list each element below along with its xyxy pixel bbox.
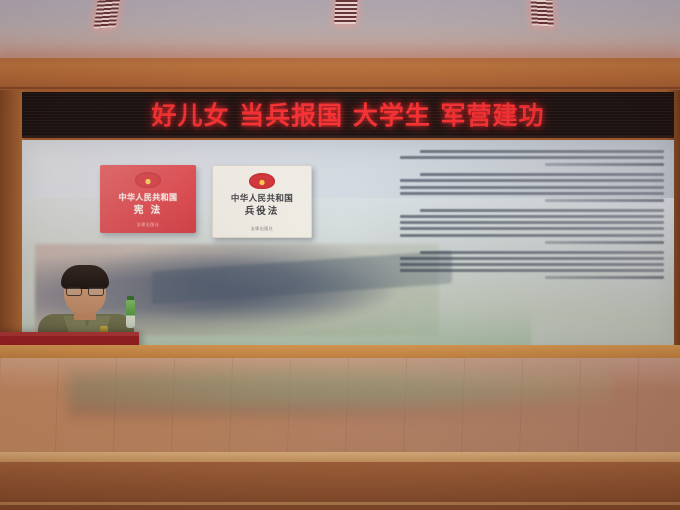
ceiling-light-icon: [334, 0, 358, 24]
slide-paragraph: 在征集期间，应当保障公民依法履行兵役义务，高等学校学生保留学籍。 《中华人民共和…: [400, 251, 664, 280]
ceiling-light-icon: [530, 0, 554, 27]
book-title-military-service-law: 中华人民共和国 兵役法: [231, 194, 293, 219]
slide-paragraph: 保卫祖国、抵抗侵略是中华人民共和国每一个公民的神圣职责。 《中华人民共和国宪法》…: [400, 150, 664, 166]
book-cover-constitution: 中华人民共和国 宪 法 法律出版社: [100, 165, 196, 233]
slide-text-column: 保卫祖国、抵抗侵略是中华人民共和国每一个公民的神圣职责。 《中华人民共和国宪法》…: [400, 150, 664, 286]
slide-paragraph: 中华人民共和国公民，不分民族、种族、职业、家庭出身、宗教信仰和教育程度，都有义务…: [400, 173, 664, 202]
auditorium-photo: 好儿女 当兵报国 大学生 军营建功 中华人民共和国 宪 法 法律出版社 中华人民…: [0, 0, 680, 510]
book-publisher: 法律出版社: [251, 226, 274, 232]
stage-floor: [0, 358, 680, 466]
led-banner-text: 好儿女 当兵报国 大学生 军营建功: [151, 96, 544, 132]
stage-apron: [0, 462, 680, 510]
slide-citation: [545, 199, 664, 202]
led-banner: 好儿女 当兵报国 大学生 军营建功: [22, 92, 674, 138]
book-title-constitution: 中华人民共和国 宪 法: [119, 193, 178, 218]
floor-reflection: [68, 364, 612, 416]
water-bottle: [126, 300, 135, 328]
book-cover-military-service-law: 中华人民共和国 兵役法 法律出版社: [212, 165, 312, 238]
book-publisher: 法律出版社: [137, 222, 160, 228]
slide-citation: [545, 163, 664, 166]
glasses-icon: [66, 286, 104, 295]
podium-top-edge: [0, 332, 139, 336]
slide-citation: [545, 276, 664, 279]
slide-citation: [545, 241, 664, 244]
national-emblem-icon: [249, 173, 275, 189]
apron-trim-line: [0, 502, 680, 505]
national-emblem-icon: [135, 172, 161, 188]
slide-paragraph: 每年十二月三十一日以前年满十八周岁的男性公民，应当被征集服现役。 《中华人民共和…: [400, 209, 664, 244]
